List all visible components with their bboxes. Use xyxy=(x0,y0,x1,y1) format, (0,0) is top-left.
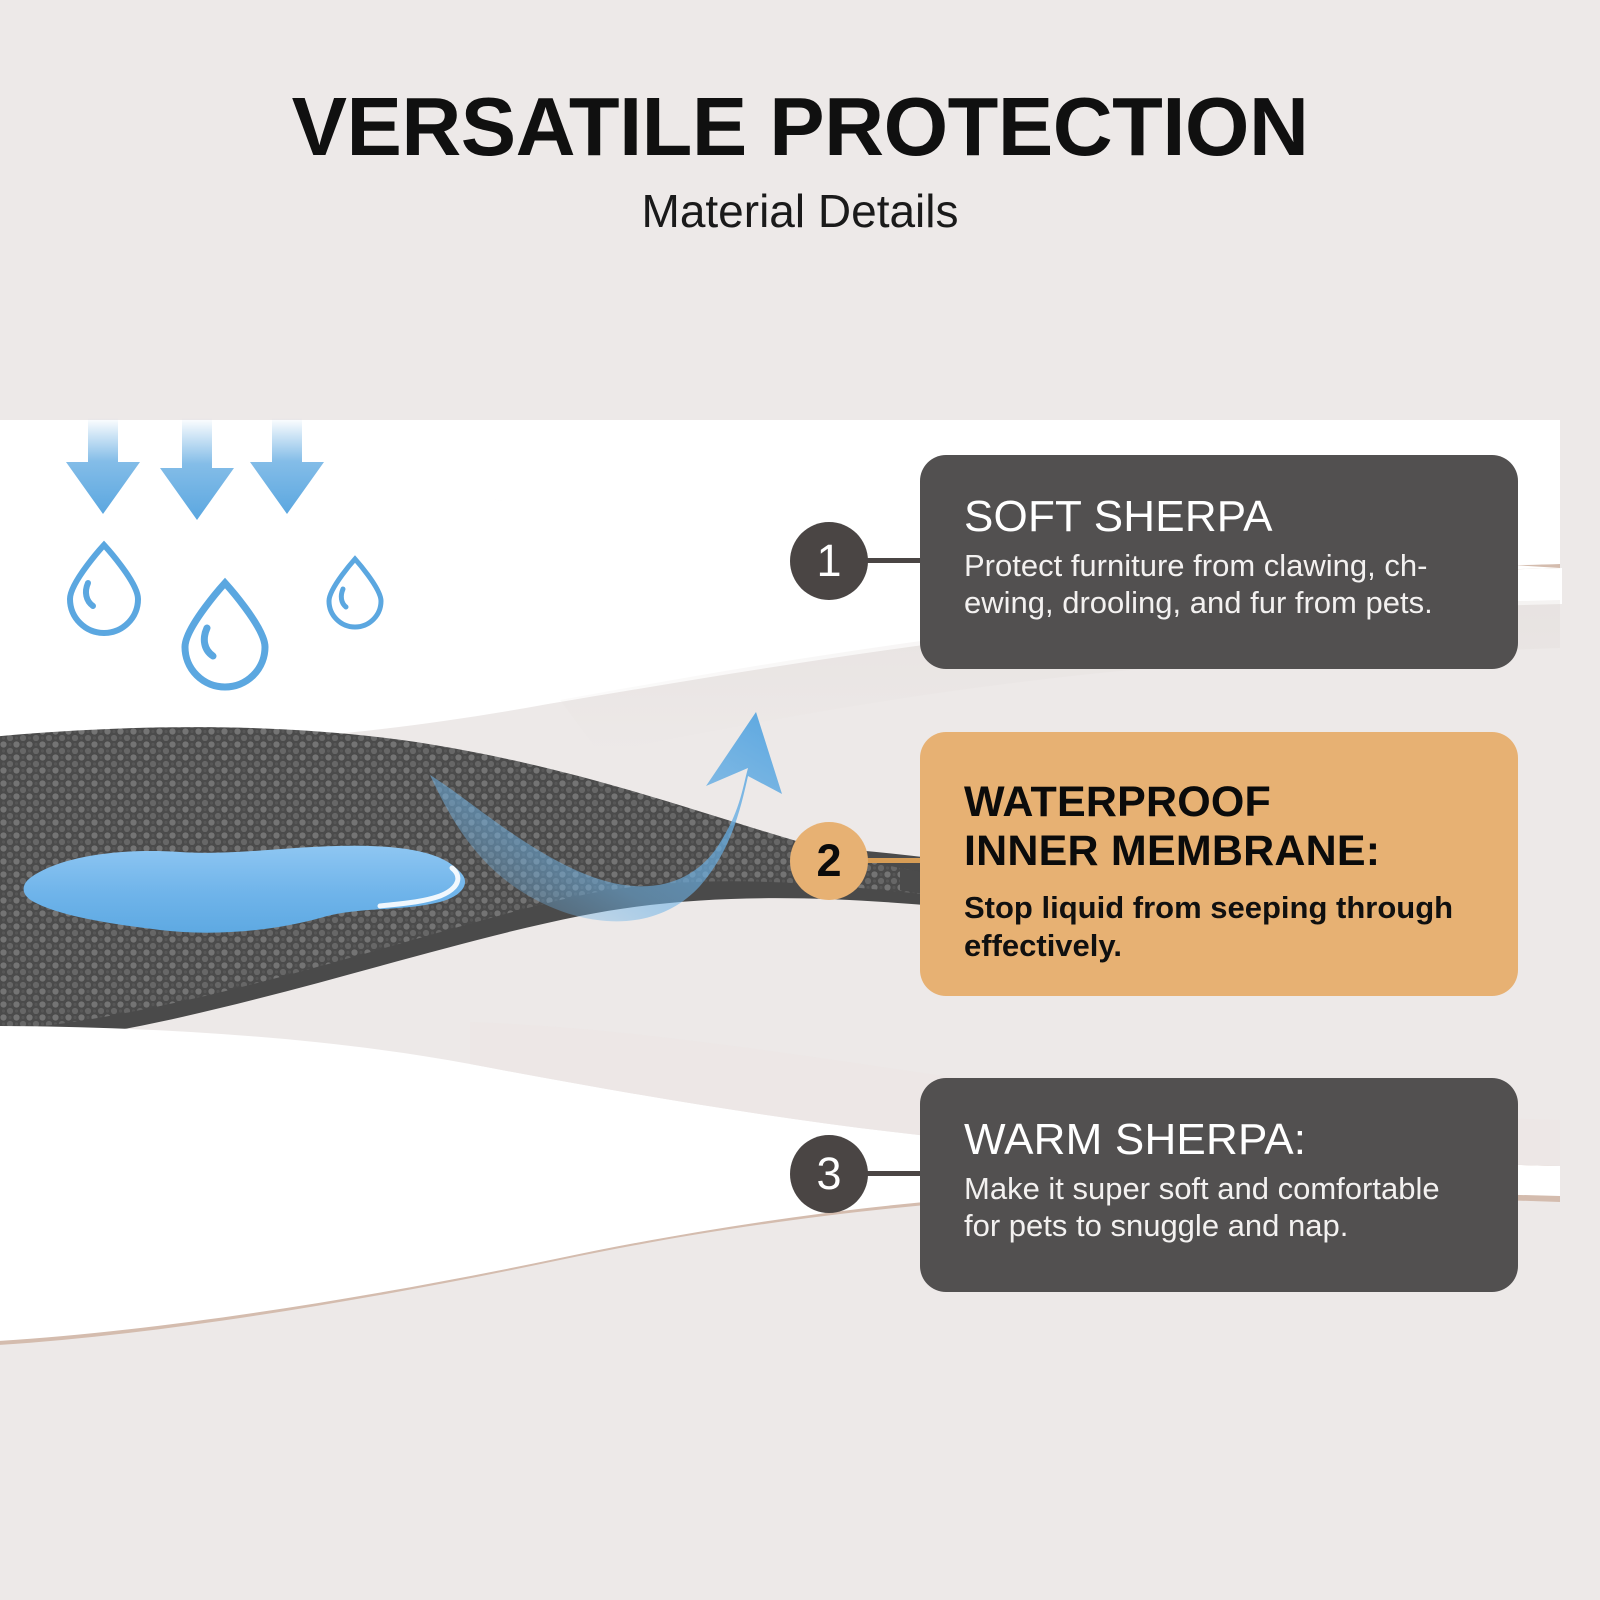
water-down-arrows-group xyxy=(66,418,324,520)
callout-2-body-line-1: Stop liquid from seeping through xyxy=(964,890,1453,925)
callout-card-waterproof-membrane[interactable]: WATERPROOF INNER MEMBRANE: Stop liquid f… xyxy=(920,732,1518,996)
callout-1-body-line-1: Protect furniture from clawing, ch- xyxy=(964,548,1427,583)
step-badge-1[interactable]: 1 xyxy=(790,522,868,600)
callout-2-body-line-2: effectively. xyxy=(964,928,1122,963)
leader-line-2 xyxy=(862,858,926,863)
callout-2-title-line-2: INNER MEMBRANE: xyxy=(964,827,1380,875)
page-title: VERSATILE PROTECTION xyxy=(0,0,1600,170)
callout-3-body-line-1: Make it super soft and comfortable xyxy=(964,1171,1440,1206)
callout-2-title-line-1: WATERPROOF xyxy=(964,778,1271,826)
callout-2-title: WATERPROOF INNER MEMBRANE: xyxy=(964,778,1478,877)
callout-3-title: WARM SHERPA: xyxy=(964,1116,1478,1164)
callout-1-title: SOFT SHERPA xyxy=(964,493,1478,541)
step-badge-2[interactable]: 2 xyxy=(790,822,868,900)
infographic-root: VERSATILE PROTECTION Material Details xyxy=(0,0,1600,1600)
header: VERSATILE PROTECTION Material Details xyxy=(0,0,1600,238)
step-badge-3[interactable]: 3 xyxy=(790,1135,868,1213)
callout-card-soft-sherpa[interactable]: SOFT SHERPA Protect furniture from clawi… xyxy=(920,455,1518,669)
callout-1-body: Protect furniture from clawing, ch- ewin… xyxy=(964,547,1478,623)
callout-1-body-line-2: ewing, drooling, and fur from pets. xyxy=(964,585,1433,620)
callout-card-warm-sherpa[interactable]: WARM SHERPA: Make it super soft and comf… xyxy=(920,1078,1518,1292)
leader-line-1 xyxy=(862,558,926,563)
callout-3-body-line-2: for pets to snuggle and nap. xyxy=(964,1208,1348,1243)
callout-2-body: Stop liquid from seeping through effecti… xyxy=(964,889,1478,965)
callout-3-body: Make it super soft and comfortable for p… xyxy=(964,1170,1478,1246)
leader-line-3 xyxy=(862,1171,926,1176)
page-subtitle: Material Details xyxy=(0,170,1600,238)
